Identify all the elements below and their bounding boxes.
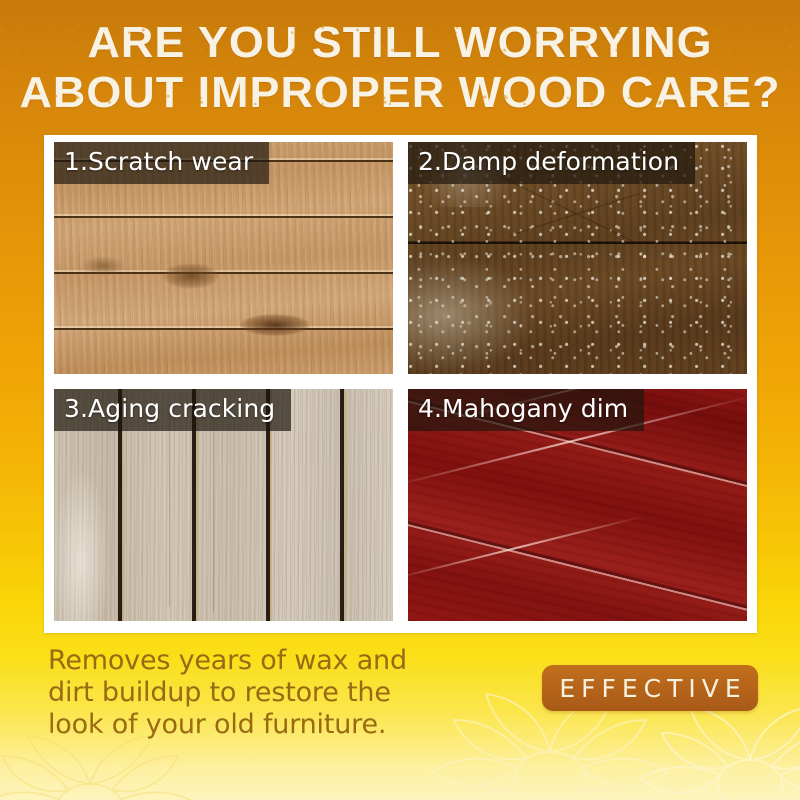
wood-knot-icon (240, 314, 310, 336)
description-text: Removes years of wax and dirt buildup to… (48, 645, 448, 741)
headline-line-2: ABOUT IMPROPER WOOD CARE? (0, 68, 800, 118)
panel-mahogany-dim: 4.Mahogany dim (408, 389, 747, 621)
headline: ARE YOU STILL WORRYING ABOUT IMPROPER WO… (0, 18, 800, 118)
wood-knot-icon (162, 263, 220, 289)
weathered-bleach-patch (54, 473, 108, 621)
photo-frame: 1.Scratch wear 2.Damp deformation 3.Agin… (44, 135, 757, 633)
problem-panel-grid: 1.Scratch wear 2.Damp deformation 3.Agin… (54, 142, 747, 620)
panel-label-1: 1.Scratch wear (54, 142, 269, 184)
panel-aging-cracking: 3.Aging cracking (54, 389, 393, 621)
wood-knot-icon (81, 256, 125, 276)
panel-label-3: 3.Aging cracking (54, 389, 291, 431)
panel-damp-deformation: 2.Damp deformation (408, 142, 747, 374)
effective-badge: EFFECTIVE (542, 665, 758, 711)
crack-line (169, 403, 170, 607)
effective-badge-label: EFFECTIVE (553, 674, 746, 703)
description-line-1: Removes years of wax and (48, 645, 448, 677)
description-line-3: look of your old furniture. (48, 709, 448, 741)
damp-stain (408, 253, 537, 374)
description-line-2: dirt buildup to restore the (48, 677, 448, 709)
panel-label-2: 2.Damp deformation (408, 142, 695, 184)
advertisement-poster: ARE YOU STILL WORRYING ABOUT IMPROPER WO… (0, 0, 800, 800)
panel-scratch-wear: 1.Scratch wear (54, 142, 393, 374)
panel-label-4: 4.Mahogany dim (408, 389, 644, 431)
headline-line-1: ARE YOU STILL WORRYING (0, 18, 800, 68)
